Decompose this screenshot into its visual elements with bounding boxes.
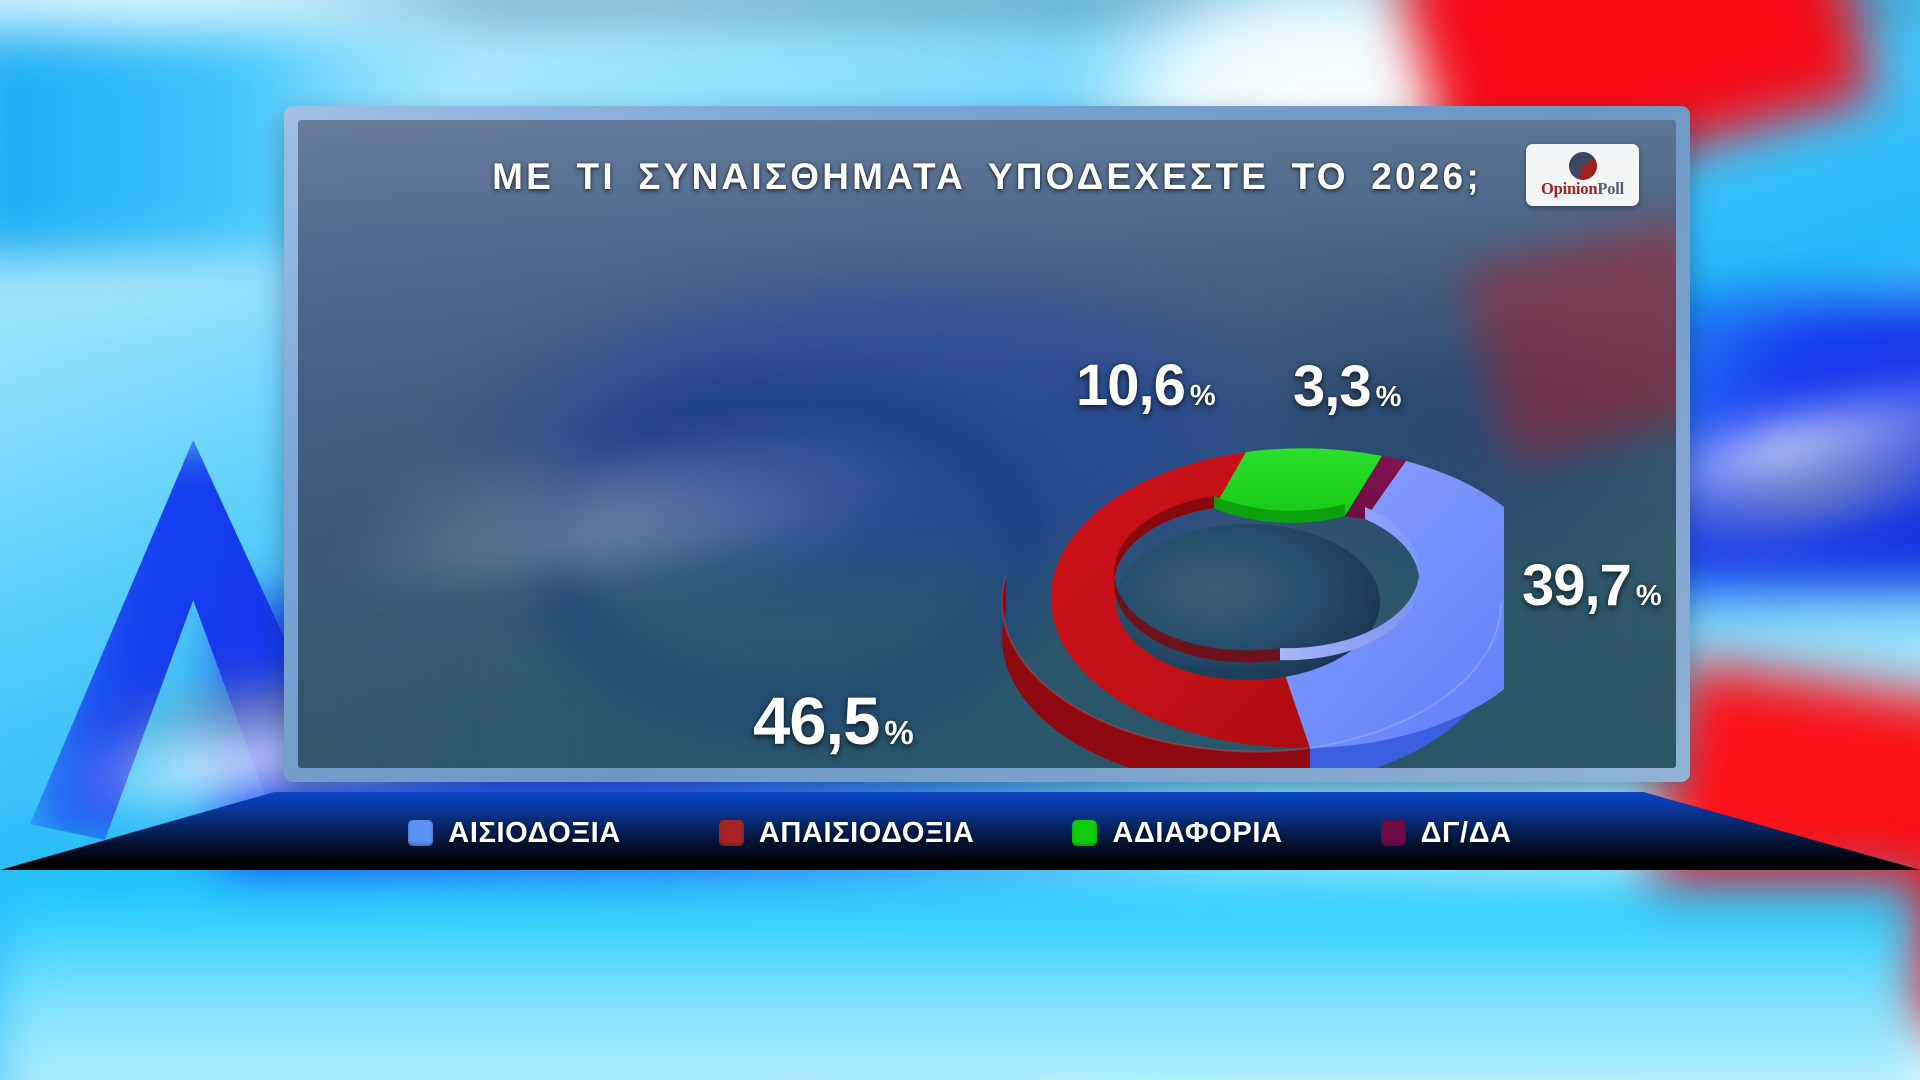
value-number-apaisiodoxia: 46,5 xyxy=(753,684,879,759)
value-percent-dgda: % xyxy=(1376,381,1402,413)
legend-label-apaisiodoxia: ΑΠΑΙΣΙΟΔΟΞΙΑ xyxy=(759,817,975,850)
page-title: ΜΕ ΤΙ ΣΥΝΑΙΣΘΗΜΑΤΑ ΥΠΟΔΕΧΕΣΤΕ ΤΟ 2026; xyxy=(298,156,1676,198)
legend-swatch-icon-aisiodoxia xyxy=(408,820,433,846)
opinionpoll-logo: OpinionPoll xyxy=(1526,144,1639,206)
legend-label-aisiodoxia: ΑΙΣΙΟΔΟΞΙΑ xyxy=(448,817,621,850)
donut-chart xyxy=(992,412,1504,768)
value-number-dgda: 3,3 xyxy=(1293,354,1371,419)
value-label-aisiodoxia: 39,7% xyxy=(1522,557,1662,615)
value-number-aisiodoxia: 39,7 xyxy=(1522,553,1631,618)
legend-items: ΑΙΣΙΟΔΟΞΙΑ ΑΠΑΙΣΙΟΔΟΞΙΑ ΑΔΙΑΦΟΡΙΑ ΔΓ/ΔΑ xyxy=(0,792,1920,870)
legend-swatch-icon-adiaforia xyxy=(1072,820,1097,846)
chart-panel: ΜΕ ΤΙ ΣΥΝΑΙΣΘΗΜΑΤΑ ΥΠΟΔΕΧΕΣΤΕ ΤΟ 2026; O… xyxy=(284,106,1690,782)
chart-panel-inner: ΜΕ ΤΙ ΣΥΝΑΙΣΘΗΜΑΤΑ ΥΠΟΔΕΧΕΣΤΕ ΤΟ 2026; O… xyxy=(298,120,1676,768)
logo-word-poll: Poll xyxy=(1597,179,1624,198)
legend-swatch-icon-apaisiodoxia xyxy=(719,820,744,846)
value-label-dgda: 3,3% xyxy=(1293,358,1401,416)
legend-swatch-icon-dgda xyxy=(1381,820,1406,846)
background-bottom-cyan xyxy=(0,880,1920,1080)
legend-label-adiaforia: ΑΔΙΑΦΟΡΙΑ xyxy=(1112,817,1282,850)
value-label-adiaforia: 10,6% xyxy=(1076,357,1216,415)
value-percent-apaisiodoxia: % xyxy=(884,714,913,751)
pie-chart-icon xyxy=(1569,152,1597,180)
legend-item-dgda: ΔΓ/ΔΑ xyxy=(1381,817,1512,850)
value-label-apaisiodoxia: 46,5% xyxy=(753,688,914,755)
donut-geometry xyxy=(1002,448,1504,768)
legend-item-apaisiodoxia: ΑΠΑΙΣΙΟΔΟΞΙΑ xyxy=(719,817,975,850)
chart-legend: ΑΙΣΙΟΔΟΞΙΑ ΑΠΑΙΣΙΟΔΟΞΙΑ ΑΔΙΑΦΟΡΙΑ ΔΓ/ΔΑ xyxy=(0,792,1920,870)
logo-word-opinion: Opinion xyxy=(1541,179,1597,198)
legend-label-dgda: ΔΓ/ΔΑ xyxy=(1421,817,1512,850)
value-number-adiaforia: 10,6 xyxy=(1076,353,1185,418)
legend-item-aisiodoxia: ΑΙΣΙΟΔΟΞΙΑ xyxy=(408,817,621,850)
logo-wordmark: OpinionPoll xyxy=(1541,181,1624,198)
legend-item-adiaforia: ΑΔΙΑΦΟΡΙΑ xyxy=(1072,817,1282,850)
value-percent-aisiodoxia: % xyxy=(1636,580,1662,612)
donut-chart-svg xyxy=(992,412,1504,768)
value-percent-adiaforia: % xyxy=(1190,380,1216,412)
